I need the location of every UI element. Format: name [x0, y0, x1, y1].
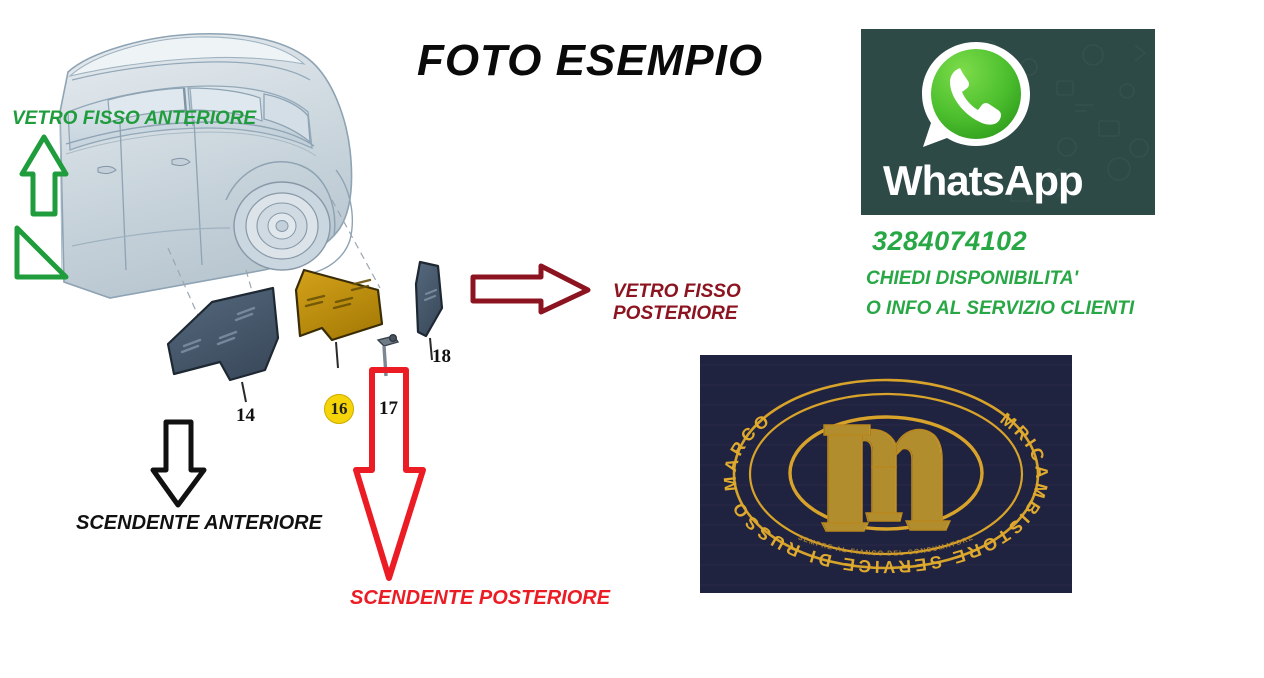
exploded-glass-parts [150, 250, 480, 430]
part-17-window-regulator [378, 335, 398, 376]
part-14-front-drop-glass [168, 288, 278, 402]
label-vfp-line-2: POSTERIORE [613, 303, 741, 325]
part-16-leader [336, 342, 338, 368]
contact-line-customer-service: O INFO AL SERVIZIO CLIENTI [866, 298, 1134, 320]
down-arrow-outline-black [153, 422, 204, 505]
part-16-rear-drop-glass [296, 270, 382, 368]
part-number-17: 17 [379, 398, 398, 420]
contact-line-availability: CHIEDI DISPONIBILITA' [866, 268, 1078, 290]
whatsapp-phone-icon [917, 37, 1035, 159]
label-scendente-posteriore: SCENDENTE POSTERIORE [350, 587, 610, 611]
part-number-badge-16: 16 [324, 394, 354, 424]
part-number-18: 18 [432, 346, 451, 368]
whatsapp-green-disc [931, 49, 1021, 139]
whatsapp-wordmark: WhatsApp [883, 157, 1083, 205]
poster-canvas: 14 18 17 16 FOTO ESEMPIO VETRO FISSO ANT… [0, 0, 1264, 678]
phone-number[interactable]: 3284074102 [872, 226, 1027, 257]
car-hub-cap [276, 221, 288, 232]
label-vetro-fisso-posteriore: VETRO FISSO POSTERIORE [613, 281, 741, 326]
whatsapp-banner: WhatsApp [861, 29, 1155, 215]
page-title: FOTO ESEMPIO [375, 36, 805, 86]
label-scendente-anteriore: SCENDENTE ANTERIORE [76, 512, 322, 536]
shop-logo: MRICAMBISTORE SERVICE DI RUSSO MARCO SEM… [700, 355, 1072, 593]
part-number-14: 14 [236, 405, 255, 427]
label-vfp-line-1: VETRO FISSO [613, 281, 741, 303]
label-vetro-fisso-anteriore: VETRO FISSO ANTERIORE [12, 108, 256, 130]
right-arrow-outline-darkred [473, 266, 588, 312]
logo-monogram-m [822, 425, 950, 531]
shop-logo-svg: MRICAMBISTORE SERVICE DI RUSSO MARCO SEM… [700, 355, 1072, 593]
part-14-leader [242, 382, 246, 402]
glass-parts-svg [150, 250, 480, 430]
